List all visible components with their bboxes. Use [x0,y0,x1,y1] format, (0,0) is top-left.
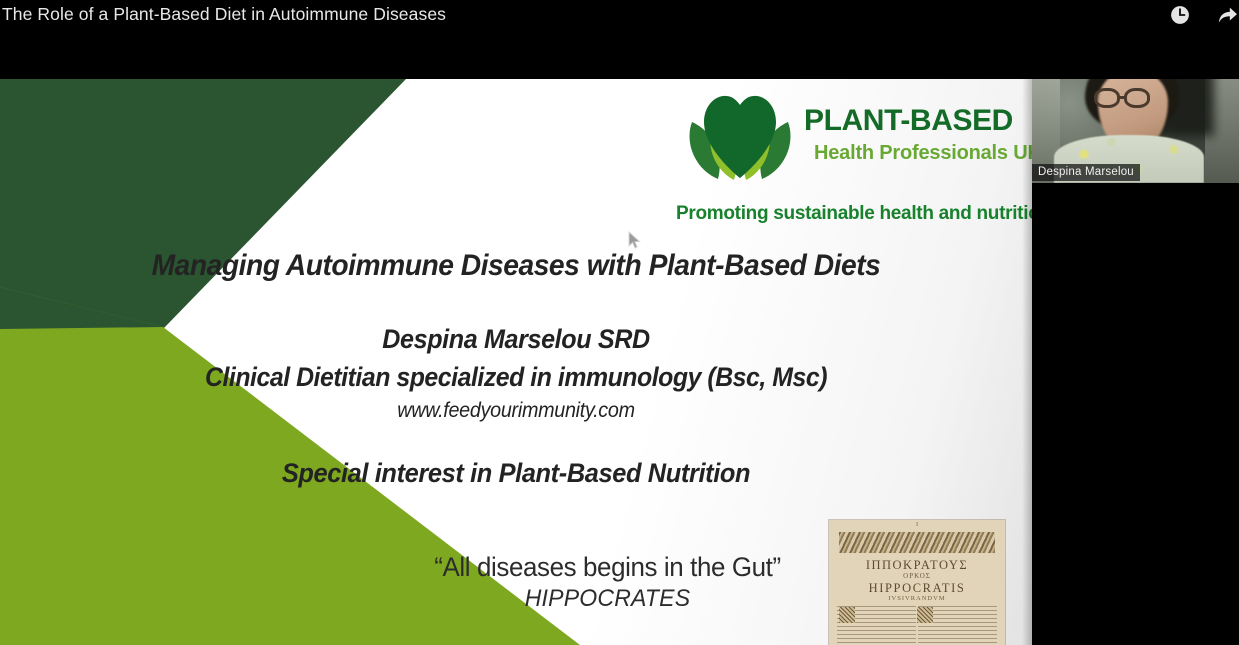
plant-based-health-professionals-logo: PLANT-BASED Health Professionals UK Prom… [676,86,1021,231]
mouse-pointer-icon [628,231,642,250]
slide-author-name: Despina Marselou SRD [36,324,996,355]
video-title: The Role of a Plant-Based Diet in Autoim… [2,4,446,25]
share-arrow-icon[interactable] [1214,2,1239,28]
manuscript-page-number: 1 [829,522,1005,528]
slide-headline: Managing Autoimmune Diseases with Plant-… [31,249,1001,283]
player-top-bar: The Role of a Plant-Based Diet in Autoim… [0,0,1239,79]
logo-tagline: Promoting sustainable health and nutriti… [676,203,1021,225]
slide-author-credentials: Clinical Dietitian specialized in immuno… [41,362,990,393]
slide-quote-author: HIPPOCRATES [24,585,1190,613]
watch-later-clock-icon[interactable] [1167,2,1193,28]
youtube-video-player: The Role of a Plant-Based Diet in Autoim… [0,0,1239,645]
heart-with-leaves-icon [684,86,796,184]
speaker-glasses-bridge [1119,96,1126,99]
logo-word-main: PLANT-BASED [804,104,1013,138]
slide-special-interest: Special interest in Plant-Based Nutritio… [31,458,1001,489]
slide-website: www.feedyourimmunity.com [31,399,1001,423]
webcam-participant-name: Despina Marselou [1032,164,1140,181]
logo-word-sub: Health Professionals UK [814,142,1032,165]
speaker-glasses-left-lens [1094,88,1120,108]
slide-quote: “All diseases begins in the Gut” [24,552,1190,583]
speaker-glasses-right-lens [1124,88,1150,108]
manuscript-ornamental-band [839,532,995,553]
